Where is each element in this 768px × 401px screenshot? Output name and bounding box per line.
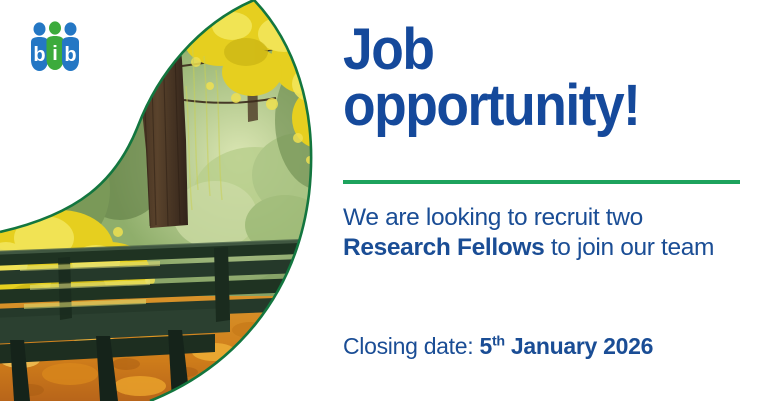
closing-date-line: Closing date: 5th January 2026 bbox=[343, 333, 733, 360]
green-divider bbox=[343, 180, 740, 184]
logo-letter-i: i bbox=[52, 43, 58, 65]
headline-line-2: opportunity! bbox=[343, 78, 711, 134]
body-copy: We are looking to recruit two Research F… bbox=[343, 203, 718, 262]
role-title: Research Fellows bbox=[343, 234, 544, 261]
closing-date-label: Closing date: bbox=[343, 333, 479, 359]
headline-line-1: Job bbox=[343, 22, 711, 78]
headline: Job opportunity! bbox=[343, 22, 711, 133]
body-text-after: to join our team bbox=[544, 234, 714, 261]
closing-date-day: 5 bbox=[479, 333, 492, 359]
closing-date-month-year: January 2026 bbox=[505, 333, 653, 359]
logo-head-right bbox=[65, 22, 77, 35]
logo-letter-b2: b bbox=[64, 44, 76, 66]
body-text-before: We are looking to recruit two bbox=[343, 204, 643, 231]
logo-letter-b1: b bbox=[33, 44, 45, 66]
content-column: Job opportunity! We are looking to recru… bbox=[343, 0, 743, 401]
logo-head-left bbox=[34, 22, 46, 35]
closing-date-ordinal: th bbox=[492, 333, 505, 349]
logo-head-center bbox=[49, 21, 61, 34]
job-opportunity-poster: b i b Job opportunity! We are looking to… bbox=[0, 0, 768, 401]
bib-logo[interactable]: b i b bbox=[27, 20, 83, 76]
